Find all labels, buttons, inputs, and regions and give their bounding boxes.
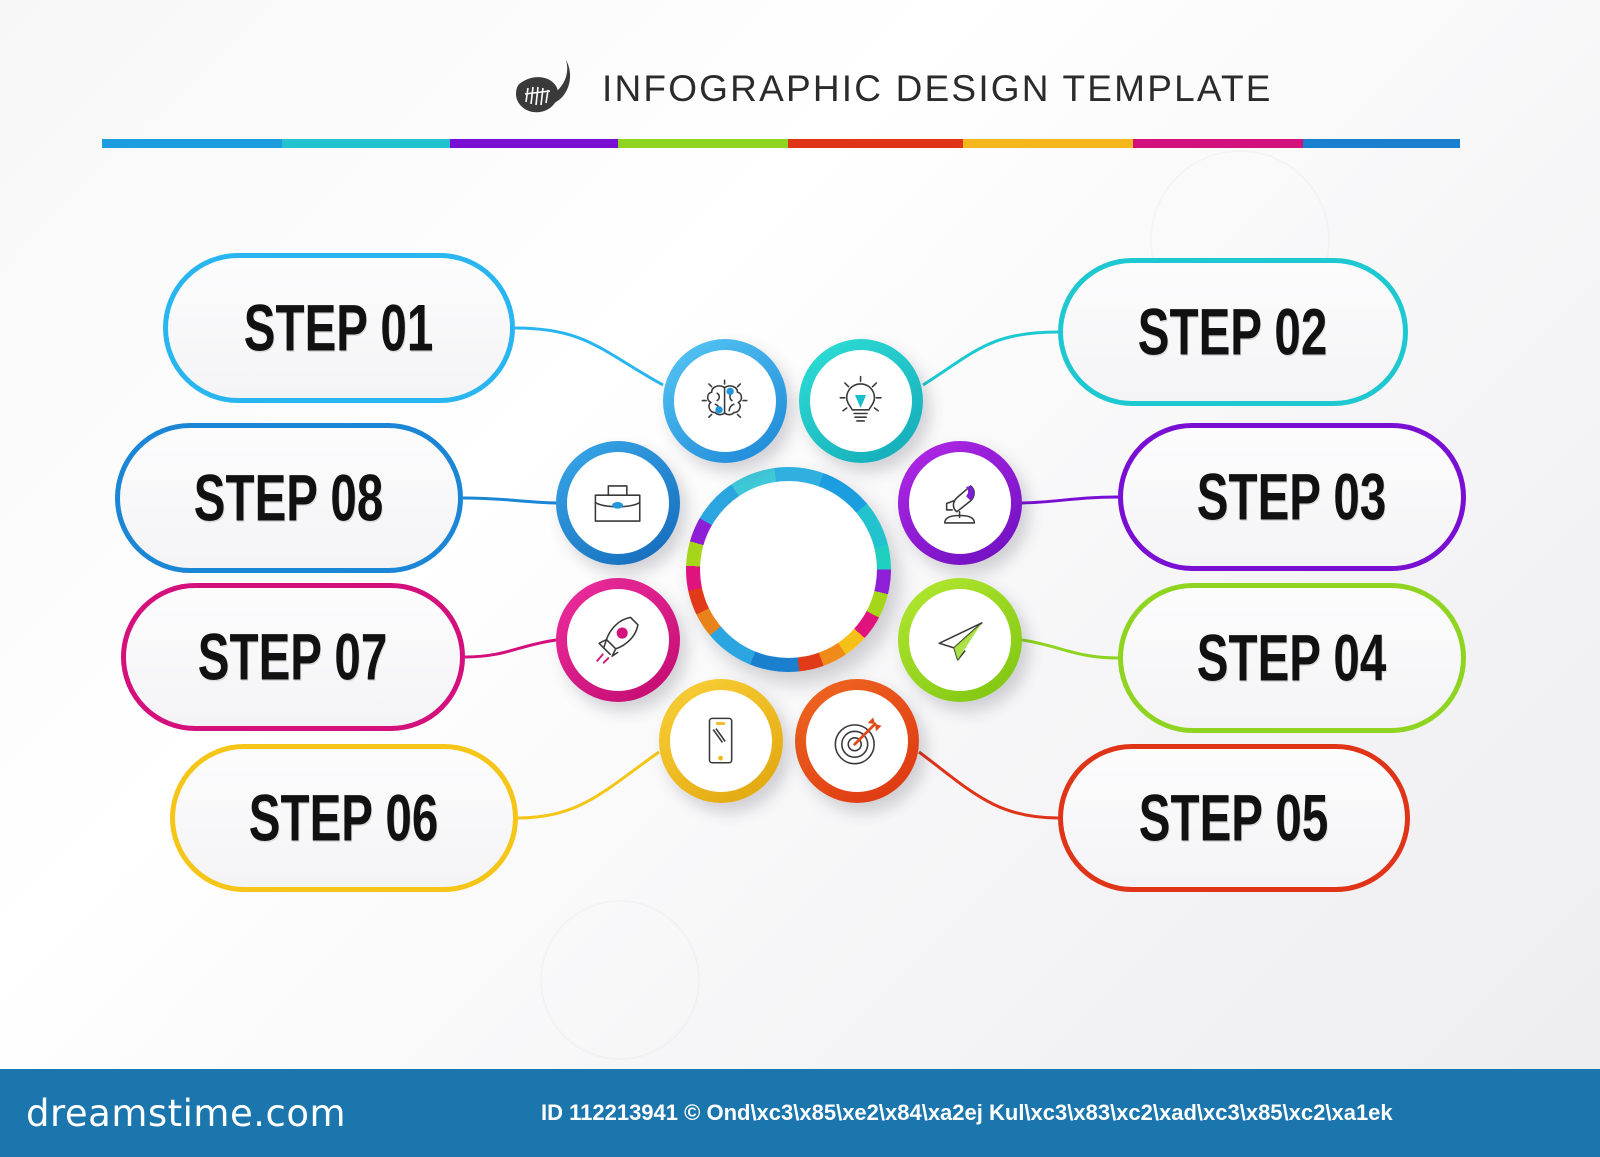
icon-node-microscope[interactable]	[898, 441, 1022, 565]
icon-node-surface	[909, 452, 1011, 554]
microscope-icon	[930, 473, 989, 532]
rocket-icon	[588, 610, 647, 669]
icon-node-smartphone[interactable]	[659, 679, 783, 803]
icon-node-surface	[567, 589, 669, 691]
icon-node-lightbulb[interactable]	[799, 339, 923, 463]
icon-cluster	[0, 0, 1600, 1157]
icon-node-surface	[674, 350, 776, 452]
icon-node-surface	[806, 690, 908, 792]
footer-bar: dreamstime.com ID 112213941 © Ond\xc3\x8…	[0, 1069, 1600, 1157]
briefcase-icon	[588, 473, 647, 532]
smartphone-icon	[691, 711, 750, 770]
center-hub	[686, 467, 891, 672]
icon-node-rocket[interactable]	[556, 578, 680, 702]
paper-plane-icon	[930, 610, 989, 669]
icon-node-paper-plane[interactable]	[898, 578, 1022, 702]
brain-icon	[695, 371, 754, 430]
icon-node-surface	[670, 690, 772, 792]
icon-node-briefcase[interactable]	[556, 441, 680, 565]
icon-node-surface	[909, 589, 1011, 691]
icon-node-surface	[810, 350, 912, 452]
infographic-canvas: INFOGRAPHIC DESIGN TEMPLATE STEP 01 STEP…	[0, 0, 1600, 1157]
icon-node-surface	[567, 452, 669, 554]
hub-inner-surface	[700, 481, 877, 658]
footer-brand-text: dreamstime.com	[26, 1092, 346, 1135]
icon-node-target[interactable]	[795, 679, 919, 803]
icon-node-brain[interactable]	[663, 339, 787, 463]
target-arrow-icon	[827, 711, 886, 770]
dreamstime-logo: dreamstime.com	[26, 1092, 346, 1135]
footer-credit-text: ID 112213941 © Ond\xc3\x85\xe2\x84\xa2ej…	[541, 1100, 1393, 1126]
lightbulb-icon	[831, 371, 890, 430]
